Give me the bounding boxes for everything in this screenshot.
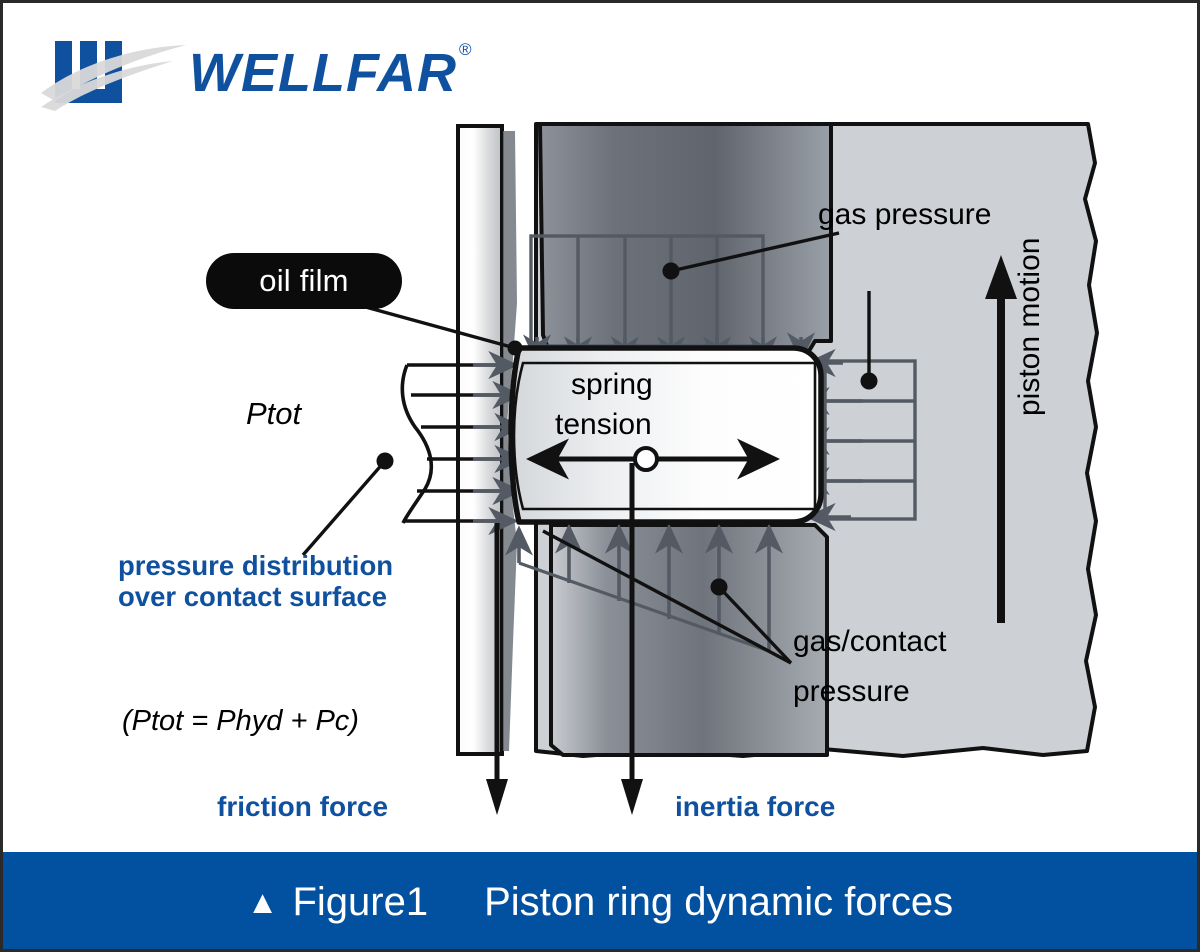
figure-page: WELLFAR ® oil film Ptot gas pressure gas… bbox=[0, 0, 1200, 952]
piston-motion-label: piston motion bbox=[1013, 176, 1047, 416]
figure-caption: ▲ Figure1 Piston ring dynamic forces bbox=[247, 880, 953, 925]
piston-lower-block bbox=[551, 525, 827, 755]
triangle-up-icon: ▲ bbox=[247, 886, 279, 918]
oil-film-label: oil film bbox=[259, 263, 348, 299]
logo-trademark-icon: ® bbox=[459, 40, 472, 59]
logo-mark bbox=[41, 41, 186, 111]
friction-force-label: friction force bbox=[217, 791, 388, 823]
oil-film-callout: oil film bbox=[206, 253, 402, 309]
gas-pressure-label: gas pressure bbox=[818, 198, 991, 232]
gas-contact-pressure-label-line2: pressure bbox=[793, 675, 910, 709]
spring-tension-label-line1: spring bbox=[571, 368, 653, 402]
gas-contact-pressure-label-line1: gas/contact bbox=[793, 625, 946, 659]
figure-canvas: WELLFAR ® oil film Ptot gas pressure gas… bbox=[3, 3, 1197, 852]
ptot-formula-label: (Ptot = Phyd + Pc) bbox=[122, 705, 359, 738]
figure-number: Figure1 bbox=[292, 880, 428, 925]
pressure-distribution-label: pressure distribution over contact surfa… bbox=[118, 551, 448, 613]
figure-caption-text: Piston ring dynamic forces bbox=[484, 880, 953, 925]
ptot-label: Ptot bbox=[246, 396, 301, 432]
spring-tension-label-line2: tension bbox=[555, 408, 652, 442]
figure-caption-bar: ▲ Figure1 Piston ring dynamic forces bbox=[3, 852, 1197, 952]
logo-wordmark: WELLFAR bbox=[189, 43, 457, 103]
wellfar-logo: WELLFAR ® bbox=[41, 33, 491, 113]
inertia-force-label: inertia force bbox=[675, 791, 835, 823]
ring-center-of-gravity bbox=[635, 448, 657, 470]
